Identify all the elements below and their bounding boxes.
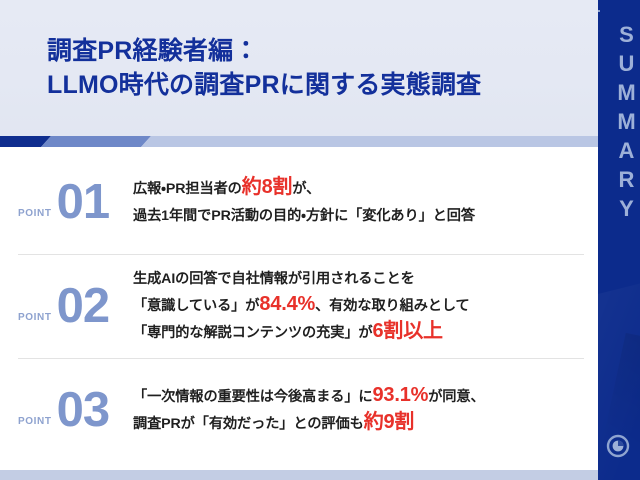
point-body-02: 生成AIの回答で自社情報が引用されることを 「意識している」が84.4%、有効な… <box>133 267 598 346</box>
point-line: 過去1年間でPR活動の目的・方針に「変化あり」と回答 <box>133 202 598 229</box>
point-text: 生成AIの回答で自社情報が引用されることを <box>133 271 415 287</box>
point-text: 「意識している」が <box>133 298 259 314</box>
point-line: 広報・PR担当者の約8割が、 <box>133 175 598 202</box>
point-body-03: 「一次情報の重要性は今後高まる」に93.1%が同意、 調査PRが「有効だった」と… <box>133 383 598 437</box>
point-text: 過去1年間でPR活動の目的・方針に「変化あり」と回答 <box>133 208 475 224</box>
point-line: 「意識している」が84.4%、有効な取り組みとして <box>133 292 598 319</box>
bottom-accent-bar <box>0 462 598 480</box>
sidebar-label-summary: SUMMARY <box>598 22 640 222</box>
logo-stem <box>598 10 600 12</box>
summary-slide: 調査PR経験者編： LLMO時代の調査PRに関する実態調査 POINT 01 広… <box>0 0 640 480</box>
divider-segment-mid <box>41 136 151 147</box>
point-text: 「一次情報の重要性は今後高まる」に <box>133 389 373 405</box>
point-body-01: 広報・PR担当者の約8割が、 過去1年間でPR活動の目的・方針に「変化あり」と回… <box>133 175 598 229</box>
point-marker-02: POINT 02 <box>18 282 133 331</box>
list-item: POINT 01 広報・PR担当者の約8割が、 過去1年間でPR活動の目的・方針… <box>0 150 598 254</box>
point-marker-03: POINT 03 <box>18 386 133 435</box>
point-line: 生成AIの回答で自社情報が引用されることを <box>133 267 598 292</box>
point-number: 01 <box>57 178 110 227</box>
point-highlight: 約9割 <box>364 411 415 433</box>
point-number: 02 <box>57 282 110 331</box>
point-text: 広報・PR担当者の <box>133 181 242 197</box>
point-line: 「専門的な解説コンテンツの充実」が6割以上 <box>133 319 598 346</box>
point-highlight: 約8割 <box>242 176 293 198</box>
slide-header: 調査PR経験者編： LLMO時代の調査PRに関する実態調査 <box>0 0 640 138</box>
page-title: 調査PR経験者編： LLMO時代の調査PRに関する実態調査 <box>47 34 577 102</box>
summary-sidebar: SUMMARY <box>598 0 640 480</box>
point-kicker-label: POINT <box>18 312 52 323</box>
point-text: 「専門的な解説コンテンツの充実」が <box>133 325 373 341</box>
point-text: が同意、 <box>428 389 484 405</box>
point-text: 、有効な取り組みとして <box>315 298 470 314</box>
bottom-bar-white-gap <box>0 462 598 470</box>
divider-segment-light <box>141 136 598 147</box>
points-list: POINT 01 広報・PR担当者の約8割が、 過去1年間でPR活動の目的・方針… <box>0 150 598 462</box>
list-item: POINT 03 「一次情報の重要性は今後高まる」に93.1%が同意、 調査PR… <box>0 358 598 462</box>
point-highlight: 93.1% <box>373 384 429 406</box>
point-line: 調査PRが「有効だった」との評価も約9割 <box>133 410 598 437</box>
point-line: 「一次情報の重要性は今後高まる」に93.1%が同意、 <box>133 383 598 410</box>
point-text: が、 <box>292 181 320 197</box>
point-number: 03 <box>57 386 110 435</box>
point-highlight: 84.4% <box>259 293 315 315</box>
point-kicker-label: POINT <box>18 208 52 219</box>
target-circle-icon <box>606 434 630 458</box>
point-marker-01: POINT 01 <box>18 178 133 227</box>
list-item: POINT 02 生成AIの回答で自社情報が引用されることを 「意識している」が… <box>0 254 598 358</box>
point-text: 調査PRが「有効だった」との評価も <box>133 416 364 432</box>
header-divider-band <box>0 136 598 147</box>
point-highlight: 6割以上 <box>373 320 443 342</box>
point-kicker-label: POINT <box>18 416 52 427</box>
